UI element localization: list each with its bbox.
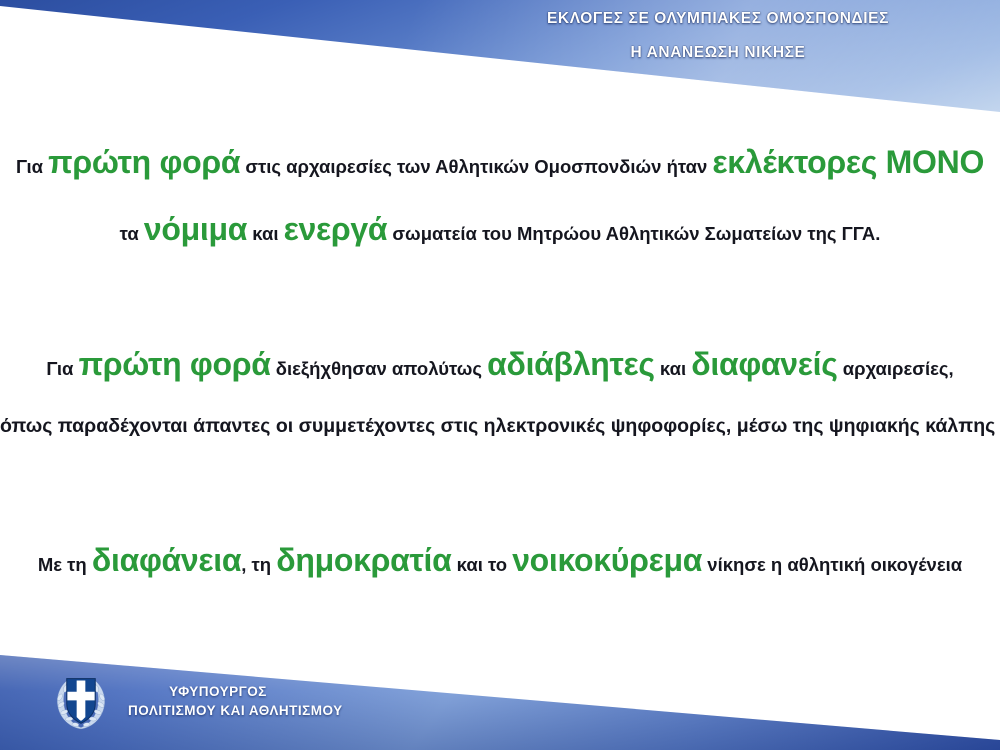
paragraph-3-line-1: Με τη διαφάνεια, τη δημοκρατία και το νο…	[0, 538, 1000, 589]
paragraph-3: Με τη διαφάνεια, τη δημοκρατία και το νο…	[0, 538, 1000, 589]
header-title-block: ΕΚΛΟΓΕΣ ΣΕ ΟΛΥΜΠΙΑΚΕΣ ΟΜΟΣΠΟΝΔΙΕΣ Η ΑΝΑΝ…	[458, 8, 978, 64]
header-title-line-1: ΕΚΛΟΓΕΣ ΣΕ ΟΛΥΜΠΙΑΚΕΣ ΟΜΟΣΠΟΝΔΙΕΣ	[458, 8, 978, 30]
text-segment: Για	[46, 358, 78, 379]
paragraph-1-line-1: Για πρώτη φορά στις αρχαιρεσίες των Αθλη…	[0, 140, 1000, 191]
emphasis-segment: πρώτη φορά	[48, 144, 240, 180]
paragraph-2-line-1: Για πρώτη φορά διεξήχθησαν απολύτως αδιά…	[0, 342, 1000, 393]
paragraph-1-line-2: τα νόμιμα και ενεργά σωματεία του Μητρώο…	[0, 207, 1000, 258]
paragraph-2: Για πρώτη φορά διεξήχθησαν απολύτως αδιά…	[0, 342, 1000, 443]
emphasis-segment: νοικοκύρεμα	[512, 542, 702, 578]
text-segment: και	[655, 358, 692, 379]
emphasis-segment: αδιάβλητες	[487, 346, 655, 382]
footer-title-block: ΥΦΥΠΟΥΡΓΟΣ ΠΟΛΙΤΙΣΜΟΥ ΚΑΙ ΑΘΛΗΤΙΣΜΟΥ	[128, 682, 428, 720]
slide-body: Για πρώτη φορά στις αρχαιρεσίες των Αθλη…	[0, 120, 1000, 640]
footer-content: ΥΦΥΠΟΥΡΓΟΣ ΠΟΛΙΤΙΣΜΟΥ ΚΑΙ ΑΘΛΗΤΙΣΜΟΥ	[0, 648, 1000, 750]
emphasis-segment: διαφάνεια	[92, 542, 241, 578]
header-subtitle-line-2: Η ΑΝΑΝΕΩΣΗ ΝΙΚΗΣΕ	[458, 42, 978, 64]
emphasis-segment: νόμιμα	[144, 211, 247, 247]
text-segment: αρχαιρεσίες,	[838, 358, 954, 379]
text-segment: και	[247, 223, 284, 244]
text-segment: όπως παραδέχονται άπαντες οι συμμετέχοντ…	[0, 415, 1000, 437]
text-segment: και το	[452, 554, 513, 575]
greek-coat-of-arms-icon	[50, 670, 112, 732]
presentation-slide: ΕΚΛΟΓΕΣ ΣΕ ΟΛΥΜΠΙΑΚΕΣ ΟΜΟΣΠΟΝΔΙΕΣ Η ΑΝΑΝ…	[0, 0, 1000, 750]
text-segment: σωματεία του Μητρώου Αθλητικών Σωματείων…	[387, 223, 880, 244]
emphasis-segment: δημοκρατία	[276, 542, 451, 578]
paragraph-2-line-2: όπως παραδέχονται άπαντες οι συμμετέχοντ…	[0, 411, 1000, 443]
text-segment: τα	[120, 223, 144, 244]
footer-title-line-1: ΥΦΥΠΟΥΡΓΟΣ	[128, 682, 308, 701]
emphasis-segment: διαφανείς	[691, 346, 837, 382]
text-segment: Για	[16, 156, 48, 177]
text-segment: Με τη	[38, 554, 92, 575]
emphasis-segment: εκλέκτορες ΜΟΝΟ	[712, 144, 984, 180]
paragraph-1: Για πρώτη φορά στις αρχαιρεσίες των Αθλη…	[0, 140, 1000, 258]
text-segment: νίκησε η αθλητική οικογένεια	[702, 554, 962, 575]
emphasis-segment: ενεργά	[284, 211, 388, 247]
text-segment: διεξήχθησαν απολύτως	[271, 358, 487, 379]
emphasis-segment: πρώτη φορά	[79, 346, 271, 382]
text-segment: , τη	[241, 554, 276, 575]
text-segment: στις αρχαιρεσίες των Αθλητικών Ομοσπονδι…	[240, 156, 712, 177]
footer-title-line-2: ΠΟΛΙΤΙΣΜΟΥ ΚΑΙ ΑΘΛΗΤΙΣΜΟΥ	[128, 701, 308, 720]
